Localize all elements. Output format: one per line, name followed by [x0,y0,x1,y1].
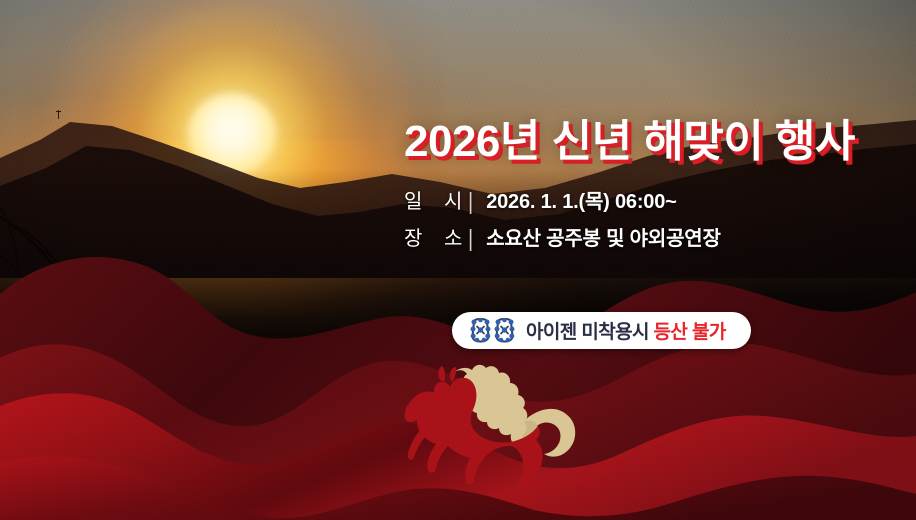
info-separator-datetime: | [468,190,473,213]
poster-content: 2026년 신년 해맞이 행사 일 시 | 2026. 1. 1.(목) 06:… [404,118,894,249]
running-horse-icon [392,362,592,492]
notice-text-emphasis: 등산 불가 [654,322,726,343]
notice-text: 아이젠 미착용시 등산 불가 [526,317,726,344]
notice-text-normal: 아이젠 미착용시 [526,322,649,343]
info-value-location: 소요산 공주봉 및 야외공연장 [486,229,720,249]
crampon-notice-badge: 아이젠 미착용시 등산 불가 [452,312,751,349]
event-info-row-location: 장 소 | 소요산 공주봉 및 야외공연장 [404,229,894,249]
crampon-icon-right [494,318,515,343]
crampon-icon [470,318,515,343]
page-title: 2026년 신년 해맞이 행사 [404,118,894,166]
info-value-datetime: 2026. 1. 1.(목) 06:00~ [486,192,676,212]
event-info-list: 일 시 | 2026. 1. 1.(목) 06:00~ 장 소 | 소요산 공주… [404,192,894,249]
crampon-icon-left [470,318,491,343]
info-label-datetime: 일 시 [404,192,466,212]
new-year-sunrise-event-poster: 2026년 신년 해맞이 행사 일 시 | 2026. 1. 1.(목) 06:… [0,0,916,520]
info-label-location: 장 소 [404,229,466,249]
event-info-row-datetime: 일 시 | 2026. 1. 1.(목) 06:00~ [404,192,894,212]
info-separator-location: | [468,227,473,250]
